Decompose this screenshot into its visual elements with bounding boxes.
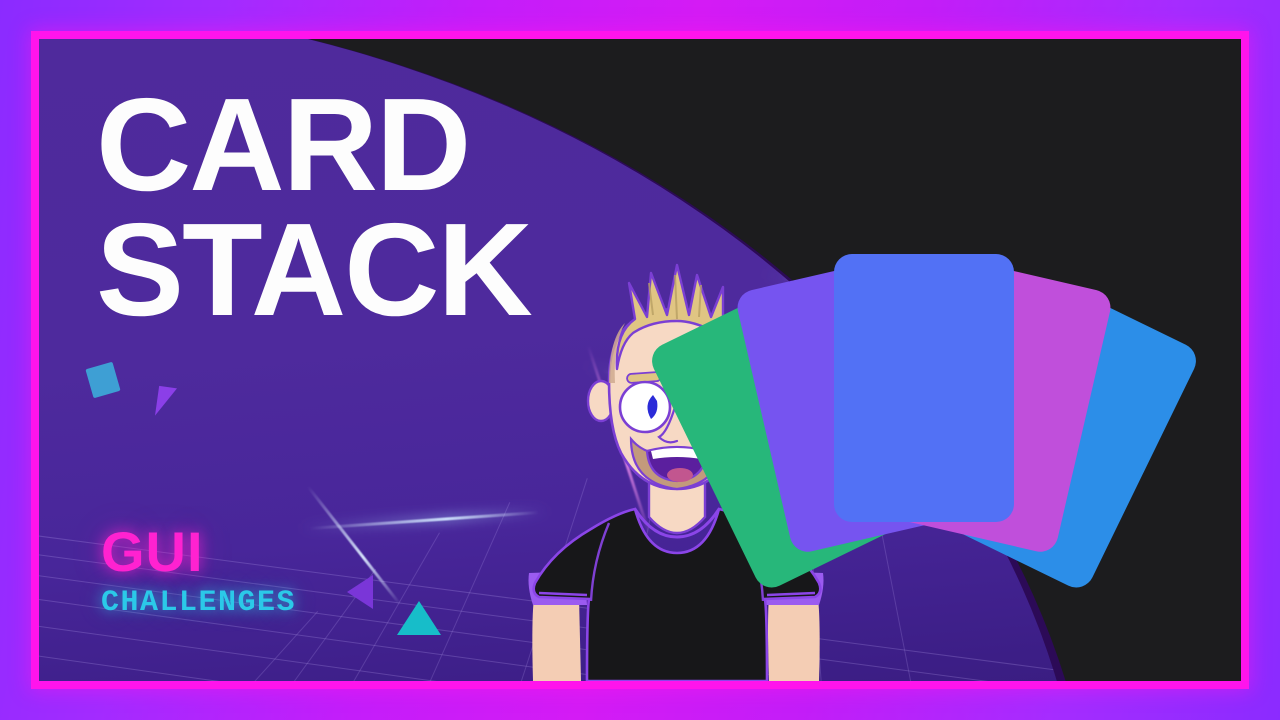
- gui-challenges-logo: GUI CHALLENGES: [101, 524, 296, 618]
- logo-secondary-text: CHALLENGES: [101, 588, 296, 618]
- confetti-triangle-purple-bottom: [347, 575, 373, 609]
- page-title: CARD STACK: [96, 82, 531, 333]
- card-blue-front[interactable]: [834, 254, 1014, 522]
- inner-canvas: CARD STACK GUI CHALLENGES: [39, 39, 1241, 681]
- logo-primary-text: GUI: [101, 524, 296, 580]
- confetti-square-blue: [85, 362, 120, 399]
- confetti-triangle-cyan: [397, 601, 441, 635]
- thumbnail-canvas: CARD STACK GUI CHALLENGES: [0, 0, 1280, 720]
- confetti-triangle-purple-top: [155, 386, 177, 418]
